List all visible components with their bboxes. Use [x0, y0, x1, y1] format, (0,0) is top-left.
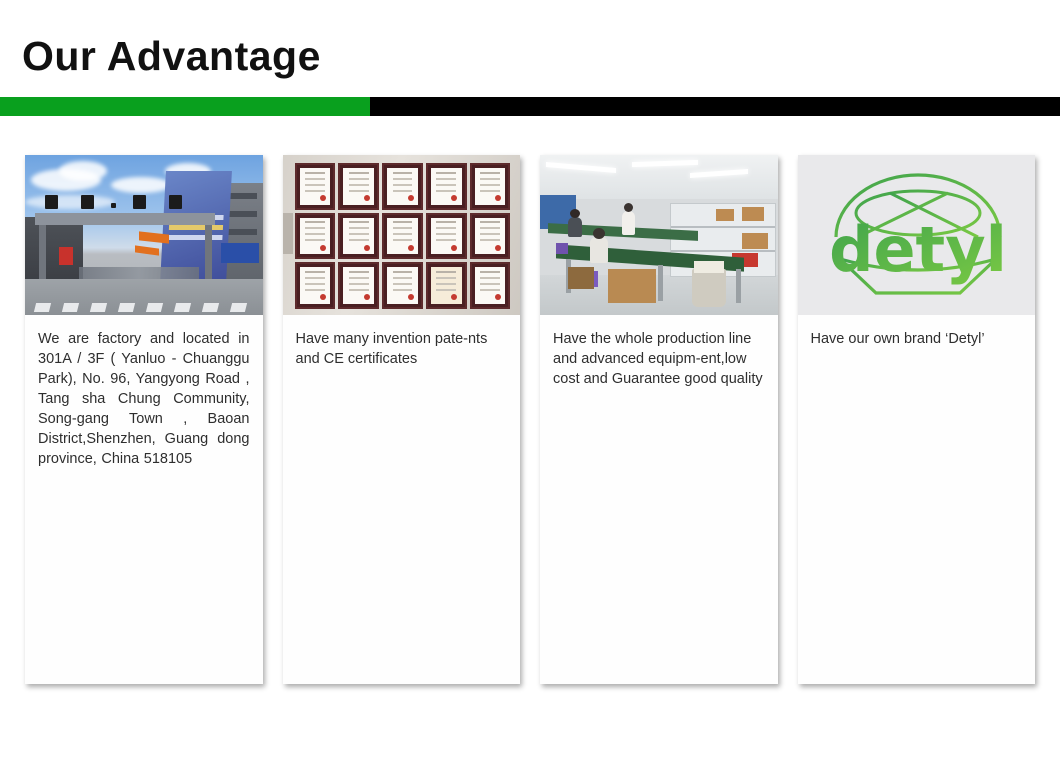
certificate-frame [470, 213, 511, 260]
certificate-frame [295, 262, 336, 309]
advantage-cards-row: We are factory and located in 301A / 3F … [25, 155, 1035, 685]
red-banner [59, 247, 73, 265]
certificate-paper [343, 218, 374, 255]
certificate-paper [475, 218, 506, 255]
certificate-frame [382, 213, 423, 260]
crosswalk-stripe [90, 303, 107, 312]
factory-park-street-photo [25, 155, 263, 315]
certificates-wall-photo [283, 155, 521, 315]
carton-box [716, 209, 734, 221]
certificate-paper [387, 218, 418, 255]
certificate-paper [343, 267, 374, 304]
certificate-frame [338, 262, 379, 309]
crosswalk-stripe [146, 303, 163, 312]
factory-worker [568, 217, 582, 237]
certificate-frame [470, 262, 511, 309]
stool [556, 243, 568, 254]
red-seal [495, 195, 501, 201]
certificate-paper [300, 168, 331, 205]
certificate-paper [343, 168, 374, 205]
red-seal [451, 245, 457, 251]
factory-worker [622, 211, 635, 235]
certificate-paper [431, 218, 462, 255]
certificate-paper [300, 267, 331, 304]
certificate-frame [295, 163, 336, 210]
carton-box [742, 207, 764, 221]
red-seal [408, 245, 414, 251]
sign-dot [111, 203, 116, 208]
certificate-frame [338, 163, 379, 210]
certificate-grid [295, 163, 511, 309]
sign-character [133, 195, 146, 209]
cloud-shape [59, 161, 107, 181]
advantage-card-text: Have the whole production line and advan… [540, 315, 778, 684]
certificate-frame [426, 262, 467, 309]
production-line-photo [540, 155, 778, 315]
red-seal [495, 245, 501, 251]
certificate-frame [426, 213, 467, 260]
red-seal [364, 294, 370, 300]
wall-edge [283, 213, 293, 255]
certificate-frame [338, 213, 379, 260]
building-left [25, 217, 83, 283]
crosswalk-stripe [62, 303, 79, 312]
led-screen [221, 243, 259, 263]
certificate-paper [300, 218, 331, 255]
certificate-frame [295, 213, 336, 260]
advantage-card-text: Have our own brand ‘Detyl’ [798, 315, 1036, 684]
sign-character [81, 195, 94, 209]
crosswalk-stripe [230, 303, 247, 312]
advantage-card[interactable]: Have many invention pate-nts and CE cert… [283, 155, 521, 684]
red-seal [451, 195, 457, 201]
advantage-card-text: Have many invention pate-nts and CE cert… [283, 315, 521, 684]
red-seal [320, 245, 326, 251]
certificate-paper [431, 267, 462, 304]
orange-canopy [135, 245, 159, 255]
certificate-frame [382, 262, 423, 309]
certificate-paper [475, 267, 506, 304]
advantage-card[interactable]: Have the whole production line and advan… [540, 155, 778, 684]
red-seal [408, 195, 414, 201]
carton-box [608, 269, 656, 303]
road-surface [25, 279, 263, 315]
page-title: Our Advantage [22, 34, 321, 79]
red-seal [495, 294, 501, 300]
detyl-brand-logo: detyl [798, 155, 1036, 315]
crosswalk-stripe [118, 303, 135, 312]
certificate-paper [431, 168, 462, 205]
advantage-card[interactable]: We are factory and located in 301A / 3F … [25, 155, 263, 684]
bench-leg [736, 269, 741, 303]
red-seal [364, 245, 370, 251]
bench-leg [658, 265, 663, 301]
advantage-card[interactable]: detyl Have our own brand ‘Detyl’ [798, 155, 1036, 684]
carton-box [742, 233, 768, 249]
red-seal [364, 195, 370, 201]
red-seal [320, 195, 326, 201]
crosswalk-stripe [34, 303, 51, 312]
crosswalk-stripe [174, 303, 191, 312]
red-seal [451, 294, 457, 300]
certificate-paper [387, 267, 418, 304]
factory-worker [590, 237, 608, 263]
advantage-card-text: We are factory and located in 301A / 3F … [25, 315, 263, 684]
sign-character [169, 195, 182, 209]
crowd-barrier [79, 267, 199, 279]
sign-character [45, 195, 58, 209]
certificate-frame [382, 163, 423, 210]
detyl-wordmark: detyl [829, 213, 1007, 286]
detyl-logo-icon: detyl [828, 167, 1008, 303]
certificate-frame [470, 163, 511, 210]
trash-bin [692, 269, 726, 307]
orange-canopy [139, 231, 169, 243]
certificate-frame [426, 163, 467, 210]
divider-bar [0, 97, 1060, 116]
crosswalk-stripe [202, 303, 219, 312]
cloud-shape [111, 177, 171, 193]
red-seal [320, 294, 326, 300]
red-seal [408, 294, 414, 300]
divider-bar-accent [0, 97, 370, 116]
certificate-paper [475, 168, 506, 205]
gateway-sign [45, 195, 205, 215]
carton-box [568, 267, 594, 289]
certificate-paper [387, 168, 418, 205]
